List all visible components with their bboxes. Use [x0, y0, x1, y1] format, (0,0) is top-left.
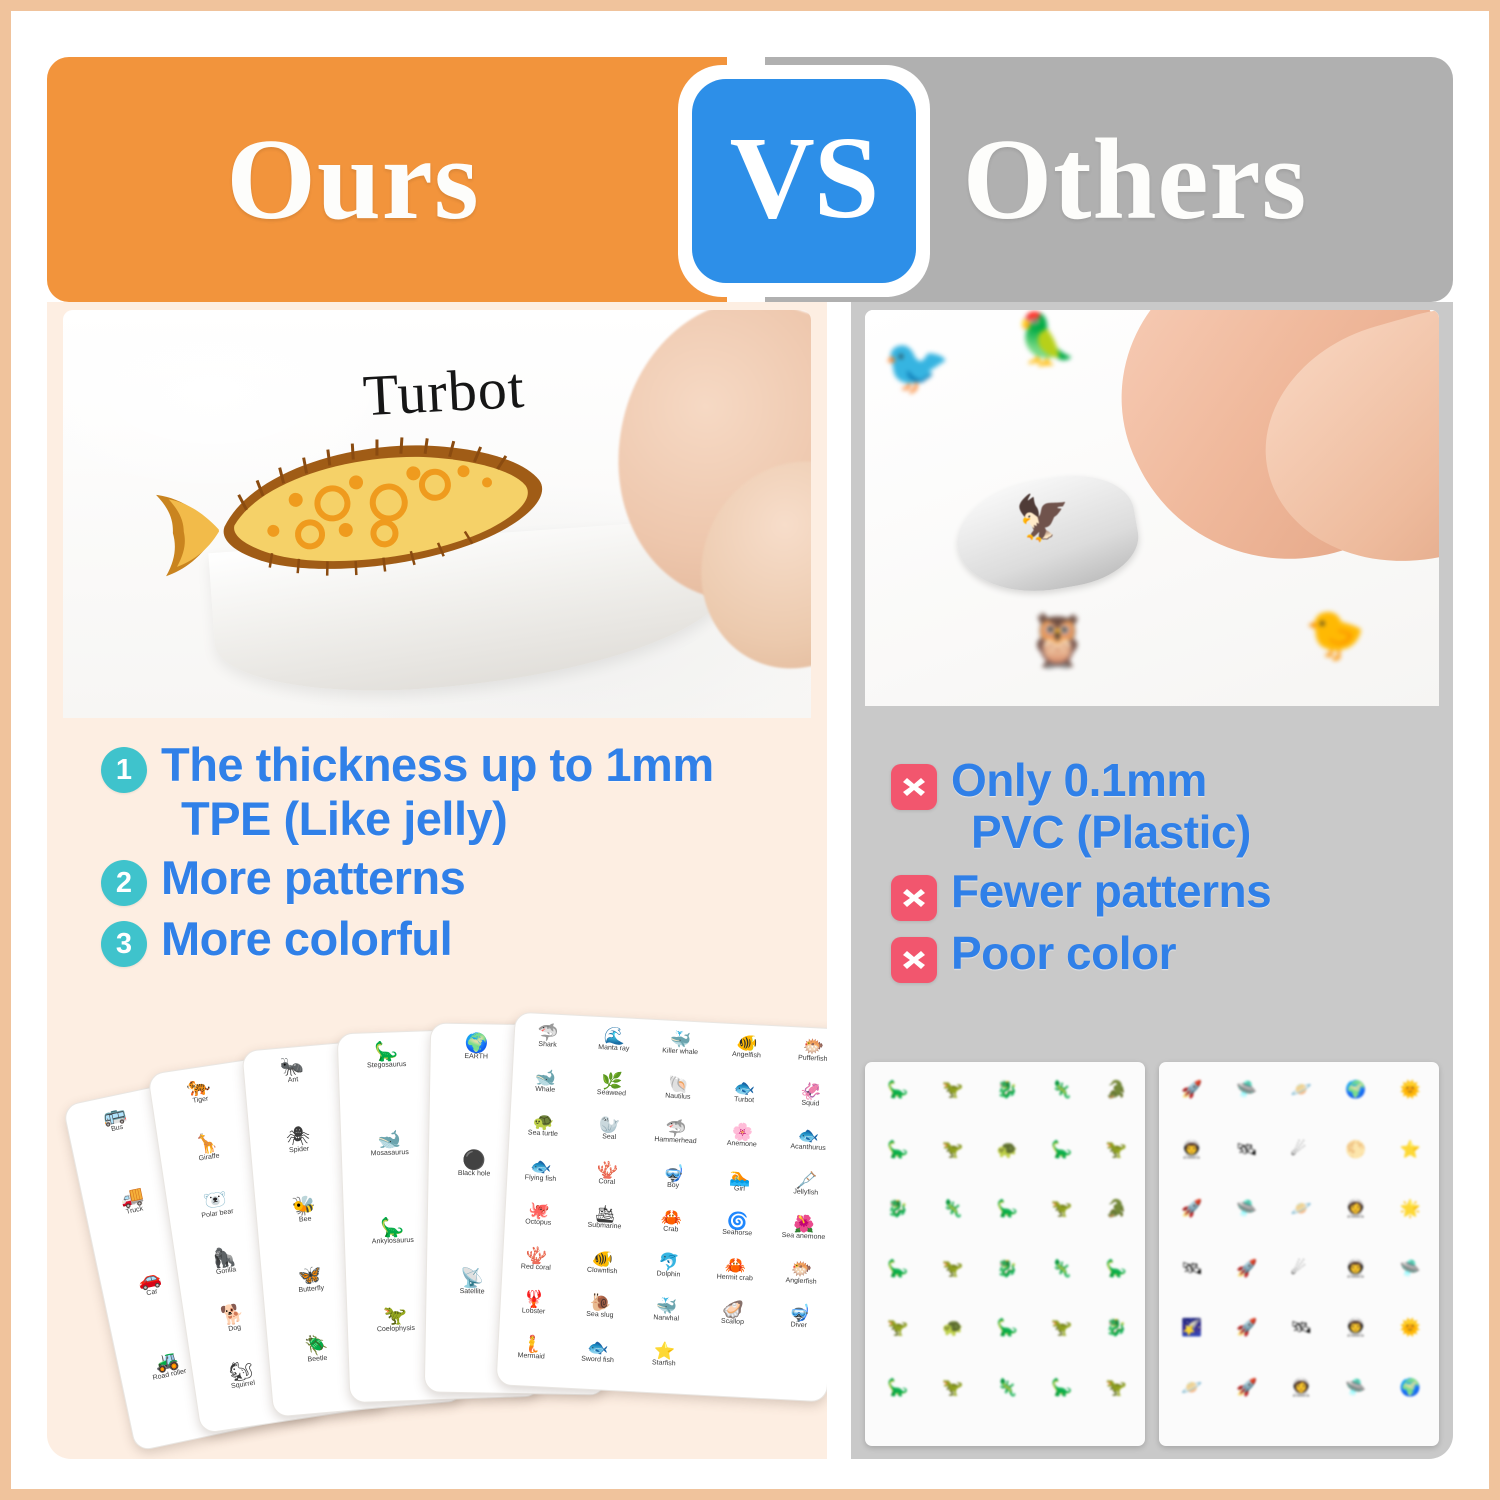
ours-bullet-list: 1 The thickness up to 1mm TPE (Like jell…: [101, 738, 821, 973]
sticker-glyph: 🌍: [431, 1033, 522, 1054]
sticker-glyph: 🦖: [942, 1081, 963, 1098]
sticker-label: Jellyfish: [772, 1187, 827, 1198]
sticker-item: 🐠Angelfish: [713, 1033, 781, 1061]
sticker-item: 🏊Girl: [706, 1166, 774, 1194]
sticker-item: 🐳Killer whale: [647, 1030, 715, 1058]
sticker-item: 🐟Flying fish: [507, 1156, 575, 1184]
bullet-item: 3 More colorful: [101, 912, 821, 967]
cross-mark-icon: [891, 937, 937, 983]
sticker-glyph: 🚀: [1181, 1081, 1202, 1098]
sticker-glyph: 🦕: [887, 1260, 908, 1277]
vs-label: VS: [730, 119, 879, 237]
sticker-sheet-marine: 🦈Shark🌊Manta ray🐳Killer whale🐠Angelfish🐡…: [495, 1012, 827, 1403]
infographic-frame: Ours Others VS Turbot: [11, 11, 1489, 1489]
sticker-item: 🪸Red coral: [503, 1245, 571, 1273]
sticker-item: 🐟Acanthurus: [775, 1125, 827, 1153]
sticker-glyph: 🌠: [1181, 1319, 1202, 1336]
sticker-item: 🛳Submarine: [571, 1204, 639, 1232]
sticker-glyph: 🦎: [997, 1379, 1018, 1396]
sticker-glyph: 🦕: [887, 1081, 908, 1098]
sticker-glyph: 🦕: [887, 1141, 908, 1158]
sticker-glyph: 🛸: [1236, 1081, 1257, 1098]
sticker-item: 🐬Dolphin: [635, 1252, 703, 1280]
sticker-glyph: 🚀: [1236, 1319, 1257, 1336]
sticker-glyph: 🛸: [1236, 1200, 1257, 1217]
header-others-label: Others: [963, 122, 1308, 237]
sticker-glyph: 🦕: [997, 1319, 1018, 1336]
sticker-glyph: 🐢: [942, 1319, 963, 1336]
sticker-item: 🦈Hammerhead: [642, 1118, 710, 1146]
sticker-item: 🐅Tiger: [150, 1071, 249, 1112]
sticker-item: 🦞Lobster: [500, 1289, 568, 1317]
sticker-glyph: 🪐: [1291, 1200, 1312, 1217]
bullet-item: 2 More patterns: [101, 851, 821, 906]
cross-mark-icon: [891, 875, 937, 921]
bullet-item: Fewer patterns: [891, 865, 1431, 921]
sticker-glyph: 🦖: [1051, 1200, 1072, 1217]
bullet-main-text: Only 0.1mm: [951, 754, 1207, 806]
bullet-sub-text: PVC (Plastic): [951, 806, 1251, 858]
bullet-text: Poor color: [951, 927, 1176, 979]
sticker-glyph: 🌍: [1400, 1379, 1421, 1396]
sticker-glyph: 🐢: [997, 1141, 1018, 1158]
bullet-number-badge: 1: [101, 747, 147, 793]
bullet-item: Poor color: [891, 927, 1431, 983]
sticker-item: 🦀Hermit crab: [701, 1255, 769, 1283]
sticker-glyph: 🪐: [1291, 1081, 1312, 1098]
bullet-text: Only 0.1mm PVC (Plastic): [951, 754, 1251, 859]
sticker-glyph: 🛸: [1345, 1379, 1366, 1396]
sticker-item: 🌀Seahorse: [704, 1211, 772, 1239]
sticker-item: 🐙Octopus: [505, 1200, 573, 1228]
sticker-item: 🐟Sword fish: [564, 1337, 632, 1365]
others-sticker-sheets: 🦕🦖🐉🦎🐊🦕🦖🐢🦕🦖🐉🦎🦕🦖🐊🦕🦖🐉🦎🦕🦖🐢🦕🦖🐉🦕🦖🦎🦕🦖 🚀🛸🪐🌍🌞👨‍🚀🛰…: [865, 1062, 1439, 1446]
sticker-item: 🐚Nautilus: [644, 1074, 712, 1102]
sticker-glyph: 🦕: [1106, 1260, 1127, 1277]
sticker-label: Acanthurus: [775, 1142, 827, 1153]
ours-product-photo: Turbot: [63, 310, 811, 718]
sticker-glyph: 🌕: [1345, 1141, 1366, 1158]
blurred-bird-sticker: 🦉: [1025, 610, 1090, 671]
sticker-glyph: 🌞: [1400, 1319, 1421, 1336]
sticker-item: 🌸Anemone: [708, 1122, 776, 1150]
sticker-glyph: 🦕: [997, 1200, 1018, 1217]
bullet-text: More patterns: [161, 851, 465, 905]
sticker-item: 🐋Whale: [512, 1067, 580, 1095]
bullet-sub-text: TPE (Like jelly): [161, 792, 714, 846]
sticker-sheet-dinosaurs-low-quality: 🦕🦖🐉🦎🐊🦕🦖🐢🦕🦖🐉🦎🦕🦖🐊🦕🦖🐉🦎🦕🦖🐢🦕🦖🐉🦕🦖🦎🦕🦖: [865, 1062, 1145, 1446]
others-bullet-list: Only 0.1mm PVC (Plastic) Fewer patterns …: [891, 754, 1431, 989]
sticker-item: 🐜Ant: [243, 1054, 341, 1089]
sticker-glyph: 🦖: [942, 1379, 963, 1396]
sticker-item: 🦪Scallop: [699, 1300, 767, 1328]
bullet-main-text: The thickness up to 1mm: [161, 738, 714, 791]
sticker-sheet-fan: 🚌Bus🚌School bus🚚Truck🚜Excavator🚗Car🏎Spor…: [87, 1002, 827, 1442]
sticker-item: 🐌Sea slug: [566, 1293, 634, 1321]
sticker-glyph: ⭐: [1400, 1141, 1421, 1158]
header-ours-label: Ours: [226, 122, 479, 237]
sticker-item: 🦑Squid: [777, 1081, 827, 1109]
vs-badge-container: VS: [678, 65, 930, 297]
lifted-bird-sticker: 🦅: [1015, 492, 1070, 544]
sticker-item: 🐡Pufferfish: [779, 1037, 827, 1065]
bullet-item: 1 The thickness up to 1mm TPE (Like jell…: [101, 738, 821, 845]
sticker-sheet-space-low-quality: 🚀🛸🪐🌍🌞👨‍🚀🛰☄🌕⭐🚀🛸🪐👩‍🚀🌟🛰🚀☄👨‍🚀🛸🌠🚀🛰👨‍🚀🌞🪐🚀👩‍🚀🛸🌍: [1159, 1062, 1439, 1446]
sticker-glyph: 👨‍🚀: [1181, 1141, 1202, 1158]
sticker-item: 🐟Turbot: [711, 1077, 779, 1105]
blurred-bird-sticker: 🐤: [1305, 606, 1365, 663]
sticker-glyph: 🛰: [1291, 1319, 1313, 1336]
sticker-item: 🐠Clownfish: [569, 1248, 637, 1276]
sticker-label: Pufferfish: [779, 1053, 827, 1064]
sticker-glyph: 👨‍🚀: [1345, 1260, 1366, 1277]
sticker-glyph: ☄: [1291, 1260, 1306, 1277]
sticker-glyph: 🦖: [942, 1260, 963, 1277]
sticker-glyph: 🦎: [1051, 1260, 1072, 1277]
sticker-glyph: 👩‍🚀: [1345, 1200, 1366, 1217]
sticker-item: 🧜Mermaid: [498, 1334, 566, 1362]
sticker-item: 🌺Sea anemone: [770, 1214, 827, 1242]
sticker-glyph: 🦕: [1051, 1141, 1072, 1158]
sticker-glyph: 🛰: [1236, 1141, 1258, 1158]
sticker-item: 🐝Bee: [255, 1193, 353, 1228]
sticker-item: 🦕Stegosaurus: [338, 1041, 435, 1071]
sticker-item: 🐳Narwhal: [633, 1296, 701, 1324]
others-panel: 🐦 🦜 🕊 🦉 🐤 🦅 Only 0.1mm PVC (Plastic): [851, 302, 1453, 1459]
sticker-item: 🩼Jellyfish: [772, 1170, 827, 1198]
header-ours-panel: Ours: [47, 57, 727, 302]
sticker-glyph: 🦕: [887, 1379, 908, 1396]
sticker-item: 🕷Spider: [249, 1123, 347, 1158]
sticker-glyph: 🪐: [1181, 1379, 1202, 1396]
sticker-label: Anglerfish: [768, 1276, 827, 1287]
bullet-text: Fewer patterns: [951, 865, 1271, 917]
sticker-glyph: 🐉: [887, 1200, 908, 1217]
blurred-bird-sticker: 🐦: [883, 336, 950, 399]
sticker-glyph: 🐉: [997, 1260, 1018, 1277]
cross-mark-icon: [891, 764, 937, 810]
sticker-item: 🐡Anglerfish: [768, 1259, 827, 1287]
sticker-glyph: 🦖: [1106, 1379, 1127, 1396]
bullet-text: More colorful: [161, 912, 452, 966]
sticker-item: 🦭Seal: [576, 1115, 644, 1143]
sticker-glyph: ☄: [1291, 1141, 1306, 1158]
vs-badge: VS: [692, 79, 916, 283]
sticker-item: 🤿Diver: [765, 1303, 827, 1331]
sticker-item: 🌍EARTH: [431, 1033, 522, 1061]
bullet-item: Only 0.1mm PVC (Plastic): [891, 754, 1431, 859]
sticker-item: 🌿Seaweed: [578, 1071, 646, 1099]
sticker-glyph: 🛰: [1181, 1260, 1203, 1277]
sticker-glyph: 🦎: [1051, 1081, 1072, 1098]
sticker-glyph: 🦎: [942, 1200, 963, 1217]
sticker-glyph: 🦖: [887, 1319, 908, 1336]
sticker-item: 🦒Giraffe: [158, 1128, 257, 1169]
sticker-glyph: 🦖: [1106, 1141, 1127, 1158]
sticker-glyph: 🚀: [1181, 1200, 1202, 1217]
sticker-item: 🐢Sea turtle: [509, 1111, 577, 1139]
sticker-item: 🤿Boy: [640, 1163, 708, 1191]
sticker-glyph: 🌟: [1400, 1200, 1421, 1217]
sticker-glyph: 🌞: [1400, 1081, 1421, 1098]
sticker-item: 🦈Shark: [514, 1023, 582, 1051]
sticker-label: Sea anemone: [770, 1231, 827, 1242]
sticker-glyph: 👩‍🚀: [1291, 1379, 1312, 1396]
bullet-text: The thickness up to 1mm TPE (Like jelly): [161, 738, 714, 845]
others-product-photo: 🐦 🦜 🕊 🦉 🐤 🦅: [865, 310, 1439, 706]
sticker-item: ⭐Starfish: [630, 1341, 698, 1369]
bullet-number-badge: 3: [101, 921, 147, 967]
ours-panel: Turbot: [47, 302, 827, 1459]
sticker-glyph: 🛸: [1400, 1260, 1421, 1277]
sticker-glyph: 🐊: [1106, 1081, 1127, 1098]
sticker-glyph: 🦖: [1051, 1319, 1072, 1336]
sticker-item: 🌊Manta ray: [580, 1026, 648, 1054]
sticker-item: 🦀Crab: [637, 1207, 705, 1235]
blurred-bird-sticker: 🦜: [1015, 310, 1077, 369]
sticker-glyph: 🐊: [1106, 1200, 1127, 1217]
sticker-item: 🚌Bus: [66, 1096, 165, 1142]
sticker-glyph: 🌍: [1345, 1081, 1366, 1098]
sticker-label: EARTH: [431, 1052, 522, 1061]
sticker-glyph: 🦕: [1051, 1379, 1072, 1396]
sticker-item: 🐻‍❄Polar bear: [167, 1185, 266, 1226]
sticker-item: 🐋Mosasaurus: [341, 1129, 438, 1159]
bullet-number-badge: 2: [101, 860, 147, 906]
sticker-glyph: 🚀: [1236, 1260, 1257, 1277]
sticker-glyph: 🐉: [997, 1081, 1018, 1098]
sticker-glyph: 👨‍🚀: [1345, 1319, 1366, 1336]
sticker-glyph: 🦖: [942, 1141, 963, 1158]
sticker-glyph: 🚀: [1236, 1379, 1257, 1396]
sticker-glyph: 🐉: [1106, 1319, 1127, 1336]
sticker-item: 🪸Coral: [573, 1159, 641, 1187]
